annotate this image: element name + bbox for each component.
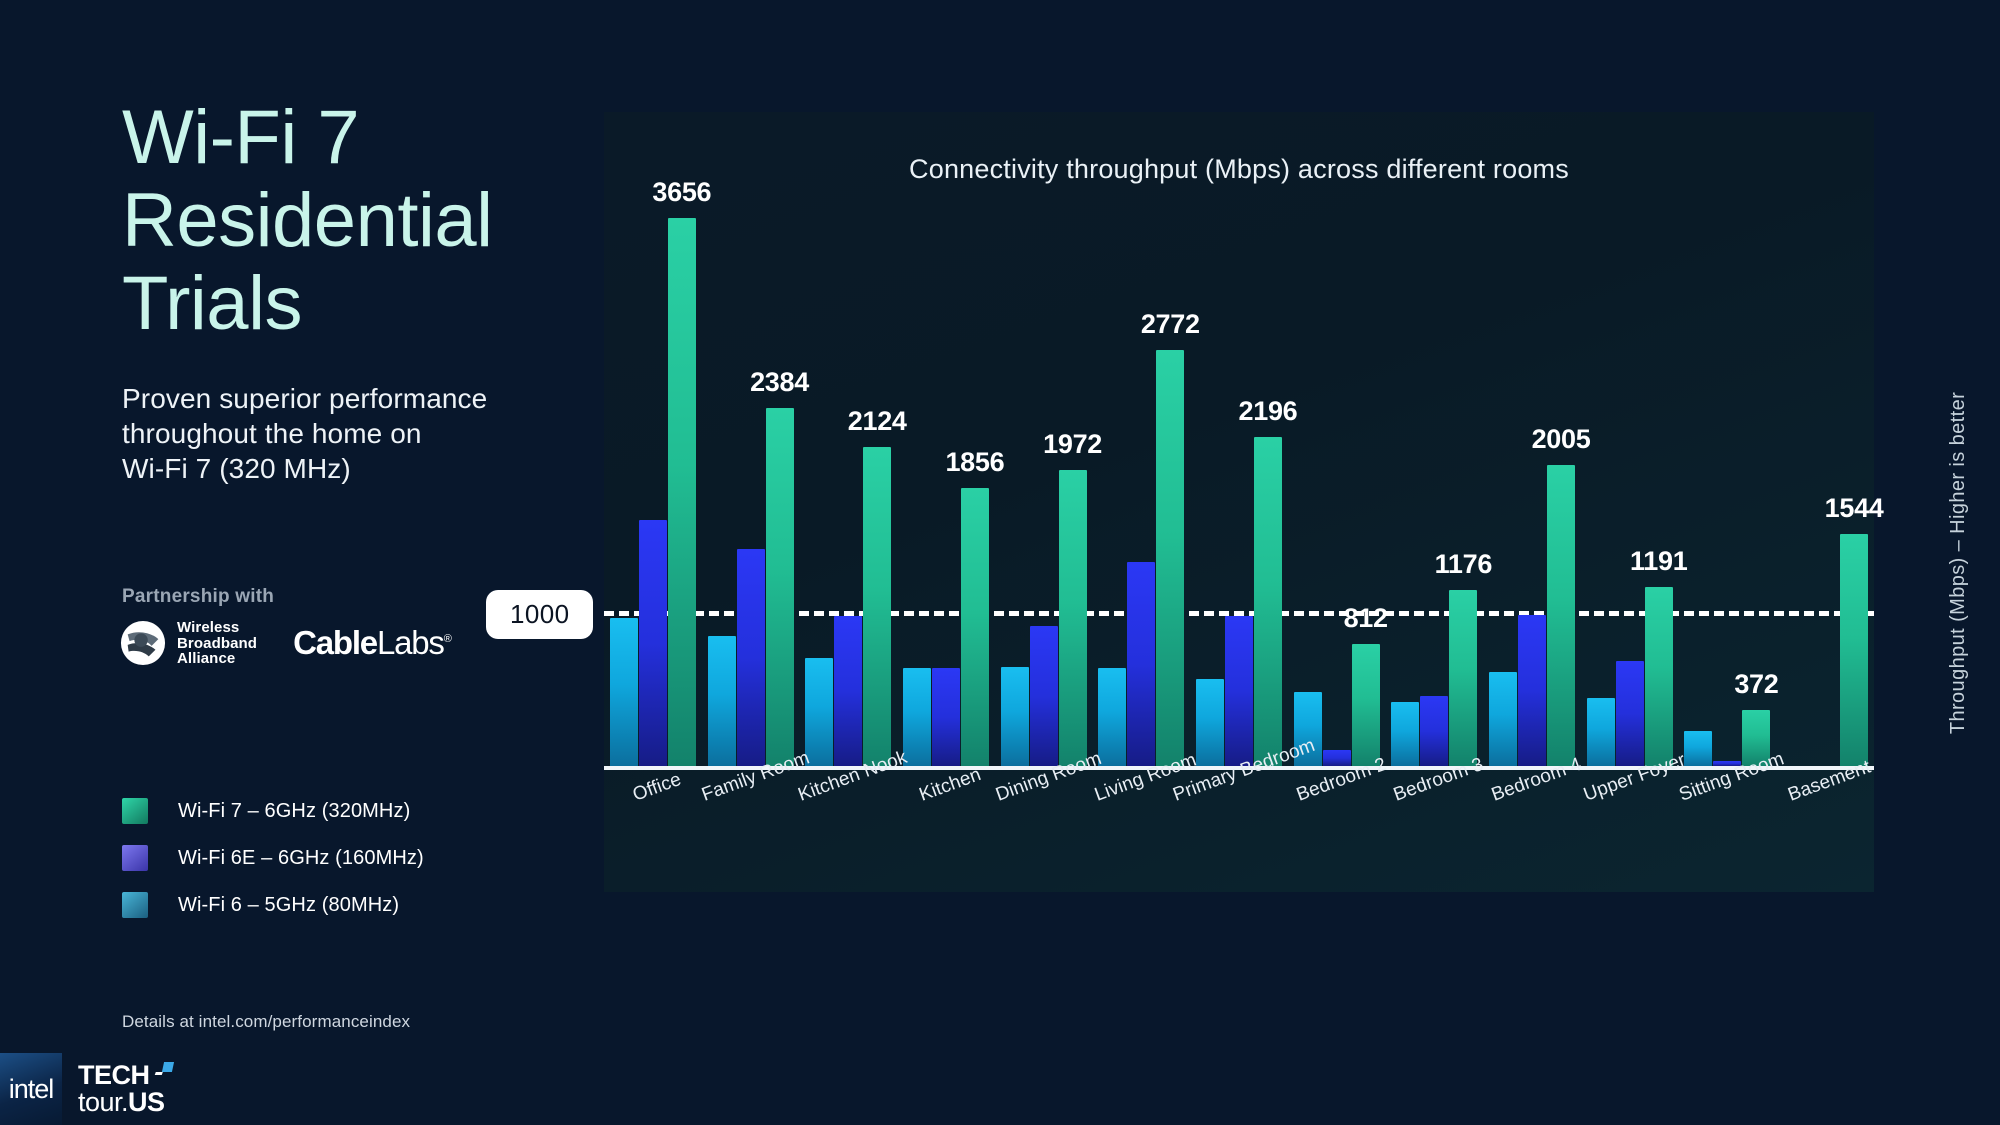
bar-0 (610, 618, 638, 767)
y-axis-label: Throughput (Mbps) – Higher is better (1947, 391, 1970, 733)
bar-1 (1225, 616, 1253, 766)
bar-0 (708, 636, 736, 767)
bar-1 (1616, 661, 1644, 766)
tech-tour-logo: TECH tour.US (78, 1062, 173, 1116)
bar-2: 1544 (1840, 534, 1868, 766)
x-axis-cell: Dining Room (995, 770, 1093, 892)
bar-value-label: 812 (1344, 603, 1388, 634)
tech-tour-tick-icon (154, 1072, 162, 1075)
x-axis-cell: Primary Bedroom (1190, 770, 1288, 892)
slide-root: Wi-Fi 7 Residential Trials Proven superi… (0, 0, 2000, 1125)
bar-1 (1323, 750, 1351, 766)
legend-swatch-wifi6e (122, 845, 148, 871)
bar-2: 1176 (1449, 590, 1477, 766)
x-axis-cell: Office (604, 770, 702, 892)
x-axis-cell: Basement (1776, 770, 1874, 892)
cablelabs-registered: ® (444, 633, 451, 645)
bar-0 (1489, 672, 1517, 766)
x-axis-cell: Bedroom 3 (1386, 770, 1484, 892)
bar-1 (1127, 562, 1155, 766)
tech-tour-dot-icon (161, 1062, 173, 1072)
details-note: Details at intel.com/performanceindex (122, 1012, 410, 1032)
bar-group: 2124 (799, 166, 897, 766)
bar-value-label: 1544 (1825, 493, 1884, 524)
legend-item-wifi6: Wi-Fi 6 – 5GHz (80MHz) (122, 892, 424, 918)
bar-group: 1176 (1386, 166, 1484, 766)
legend-swatch-wifi7 (122, 798, 148, 824)
wba-line-3: Alliance (177, 651, 257, 667)
bar-2: 1972 (1059, 470, 1087, 766)
bar-0 (1098, 668, 1126, 766)
wba-logo-text: Wireless Broadband Alliance (177, 620, 257, 667)
bar-2: 2772 (1156, 350, 1184, 766)
bar-2: 2384 (766, 408, 794, 766)
chart-legend: Wi-Fi 7 – 6GHz (320MHz) Wi-Fi 6E – 6GHz … (122, 798, 424, 939)
hero-block: Wi-Fi 7 Residential Trials Proven superi… (122, 96, 602, 486)
x-axis-cell: Sitting Room (1679, 770, 1777, 892)
bar-2: 812 (1352, 644, 1380, 766)
bar-group: 2005 (1483, 166, 1581, 766)
cablelabs-thin: Labs (377, 624, 444, 661)
legend-swatch-wifi6 (122, 892, 148, 918)
bar-2: 3656 (668, 218, 696, 766)
bar-0 (1001, 667, 1029, 766)
reference-line-badge: 1000 (486, 590, 593, 639)
partner-logos: Wireless Broadband Alliance CableLabs® (120, 620, 451, 667)
partnership-label: Partnership with (122, 586, 274, 608)
bar-group: 2772 (1092, 166, 1190, 766)
bar-1 (834, 616, 862, 766)
legend-item-wifi6e: Wi-Fi 6E – 6GHz (160MHz) (122, 845, 424, 871)
bar-0 (1391, 702, 1419, 767)
bar-groups: 3656238421241856197227722196812117620051… (604, 166, 1874, 766)
bar-1 (737, 549, 765, 767)
x-axis-label: Office (630, 769, 684, 807)
bar-0 (1684, 731, 1712, 766)
tech-tour-us: US (128, 1087, 165, 1117)
legend-item-wifi7: Wi-Fi 7 – 6GHz (320MHz) (122, 798, 424, 824)
brand-bar: intel TECH tour.US (0, 1053, 173, 1125)
bar-1 (1030, 626, 1058, 766)
x-axis-labels: OfficeFamily RoomKitchen NookKitchenDini… (604, 770, 1874, 892)
bar-group: 812 (1288, 166, 1386, 766)
bar-group: 2196 (1190, 166, 1288, 766)
cablelabs-bold: Cable (293, 624, 377, 661)
bar-1 (639, 520, 667, 766)
bar-1 (1518, 615, 1546, 767)
chart-panel: Connectivity throughput (Mbps) across di… (604, 112, 1874, 892)
x-axis-cell: Kitchen Nook (799, 770, 897, 892)
tech-tour-tech: TECH (78, 1060, 150, 1090)
chart-plot-area: 3656238421241856197227722196812117620051… (604, 112, 1874, 892)
bar-0 (1196, 679, 1224, 766)
x-axis-cell: Bedroom 2 (1288, 770, 1386, 892)
bar-2: 2196 (1254, 437, 1282, 766)
x-axis-cell: Kitchen (897, 770, 995, 892)
cablelabs-logo: CableLabs® (293, 624, 451, 662)
bar-1 (1420, 696, 1448, 767)
bar-group: 372 (1679, 166, 1777, 766)
x-axis-cell: Upper Foyer (1581, 770, 1679, 892)
bar-2: 1191 (1645, 587, 1673, 766)
intel-logo: intel (0, 1053, 62, 1125)
bar-0 (805, 658, 833, 766)
x-axis-label: Kitchen (916, 764, 984, 807)
bar-group: 1972 (995, 166, 1093, 766)
wba-mark-icon (120, 620, 166, 666)
legend-label-wifi6: Wi-Fi 6 – 5GHz (80MHz) (178, 894, 399, 917)
bar-2: 1856 (961, 488, 989, 766)
bar-1 (932, 668, 960, 766)
bar-group: 1856 (897, 166, 995, 766)
bar-group: 3656 (604, 166, 702, 766)
legend-label-wifi7: Wi-Fi 7 – 6GHz (320MHz) (178, 800, 410, 823)
x-axis-cell: Family Room (702, 770, 800, 892)
bar-group: 2384 (702, 166, 800, 766)
wba-line-1: Wireless (177, 620, 257, 636)
bar-group: 1191 (1581, 166, 1679, 766)
legend-label-wifi6e: Wi-Fi 6E – 6GHz (160MHz) (178, 847, 424, 870)
tech-tour-tour: tour. (78, 1087, 128, 1117)
wireless-broadband-alliance-logo: Wireless Broadband Alliance (120, 620, 257, 667)
intel-wordmark: intel (9, 1074, 54, 1105)
wba-line-2: Broadband (177, 636, 257, 652)
bar-2: 2124 (863, 447, 891, 766)
page-title: Wi-Fi 7 Residential Trials (122, 96, 602, 345)
bar-2: 2005 (1547, 465, 1575, 766)
x-axis-cell: Bedroom 4 (1483, 770, 1581, 892)
bar-value-label: 372 (1734, 669, 1778, 700)
bar-0 (1587, 698, 1615, 766)
bar-0 (903, 668, 931, 766)
hero-subtitle: Proven superior performance throughout t… (122, 381, 602, 486)
bar-group: 1544 (1776, 166, 1874, 766)
